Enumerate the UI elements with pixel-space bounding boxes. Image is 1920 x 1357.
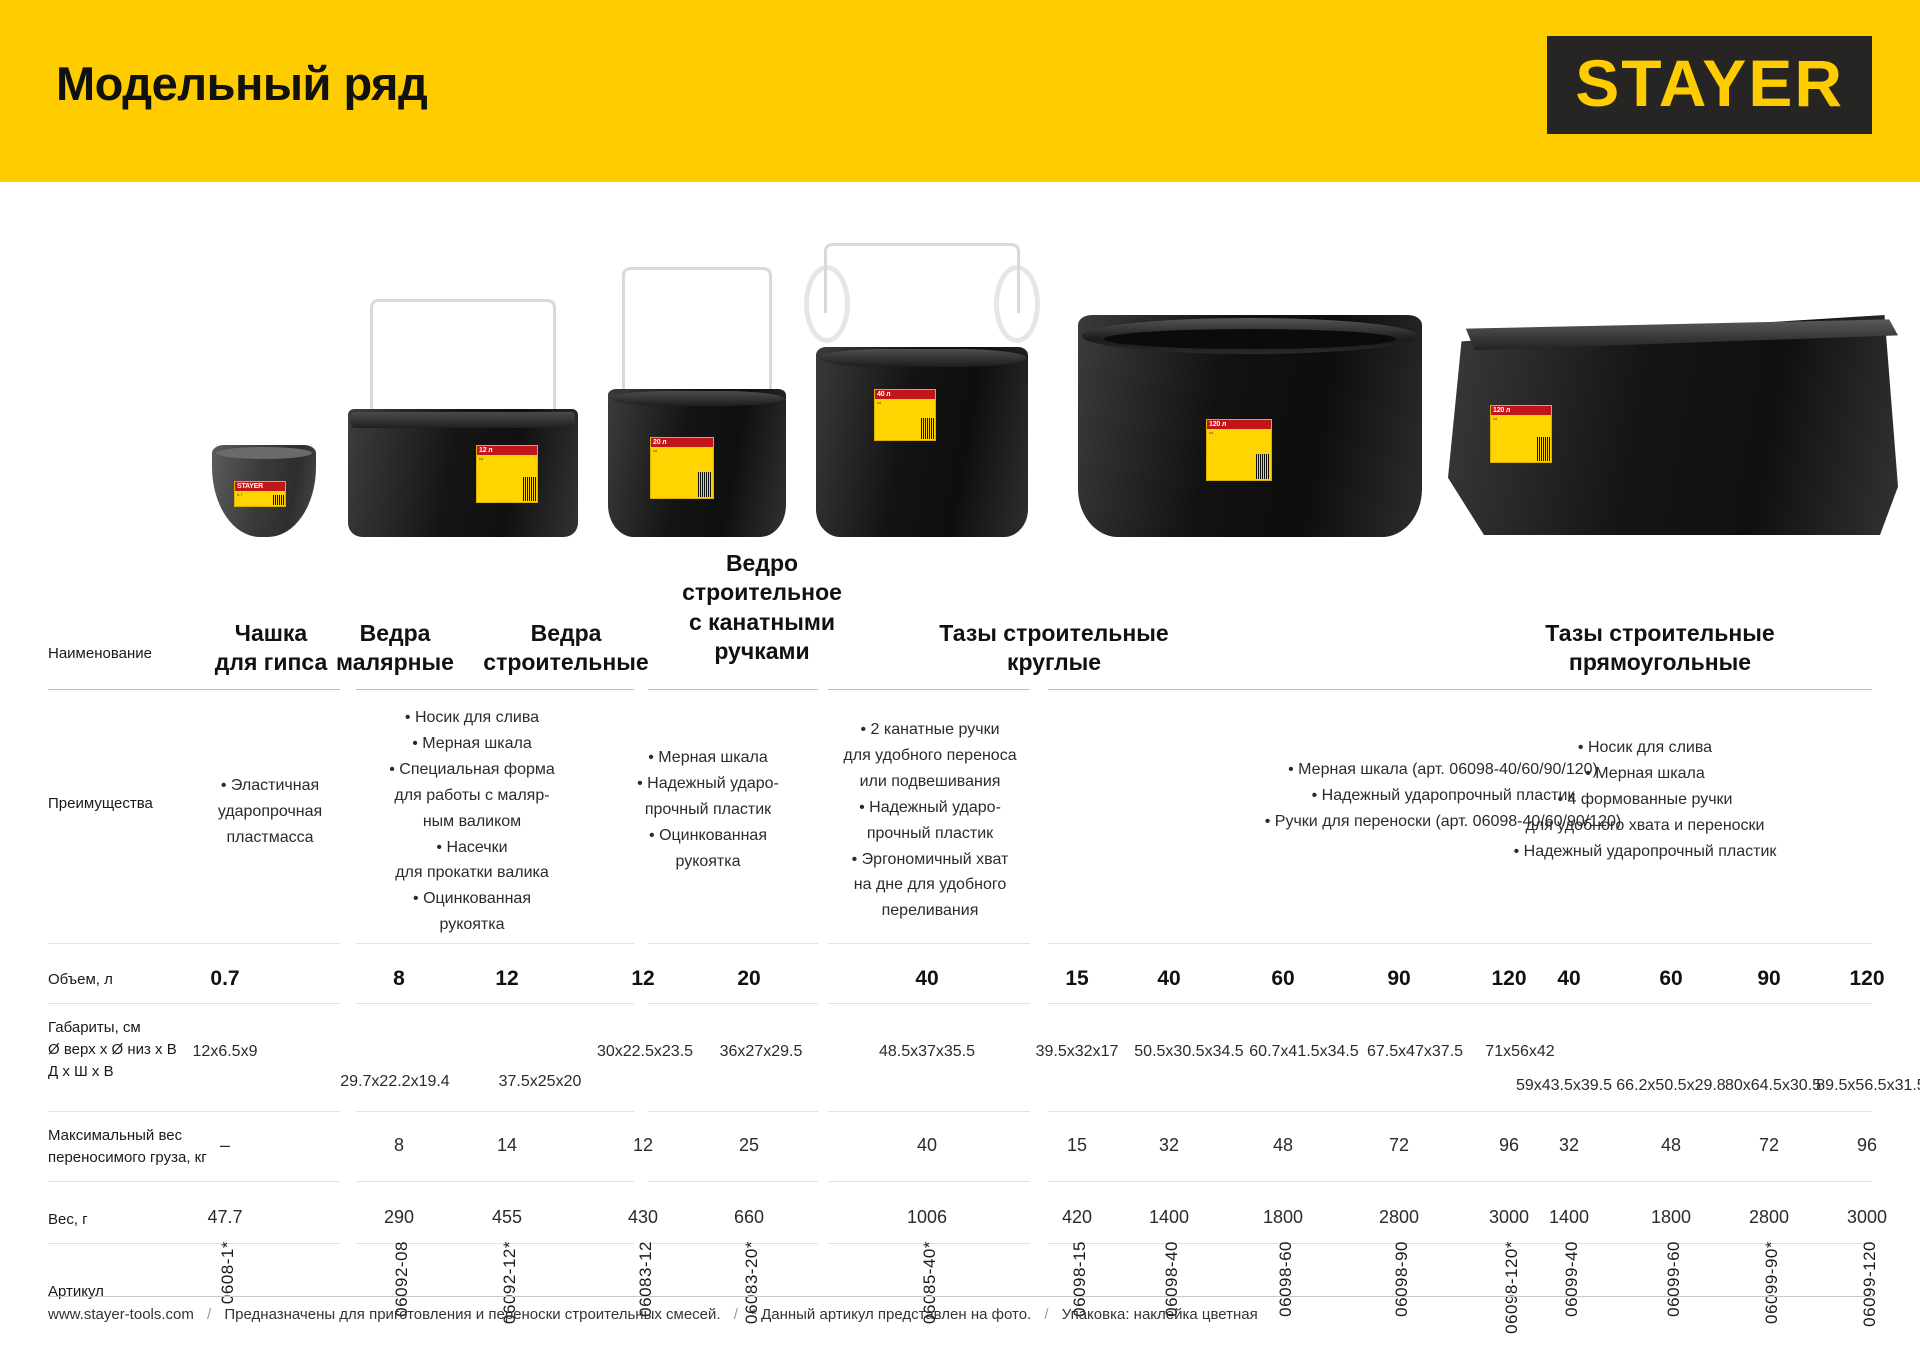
group-title-round-basins: Тазы строительные круглые xyxy=(866,619,1242,678)
advantage-line: • Надежный ударопрочный пластик xyxy=(1418,839,1872,865)
advantage-line: • Носик для слива xyxy=(366,705,578,731)
cell-weight: 1400 xyxy=(1522,1207,1616,1228)
divider xyxy=(356,943,634,944)
advantage-line: для удобного хвата и переноски xyxy=(1418,813,1872,839)
cell-volume: 8 xyxy=(352,967,446,991)
divider xyxy=(48,1243,340,1244)
cell-max-load: 32 xyxy=(1522,1135,1616,1156)
row-label-dimensions: Габариты, см Ø верх х Ø низ х В Д х Ш х … xyxy=(48,1017,177,1082)
advantage-line: на дне для удобного xyxy=(824,872,1036,898)
group-title-construction-buckets: Ведра строительные xyxy=(464,619,668,678)
advantage-line: прочный пластик xyxy=(604,797,812,823)
title-line: Тазы строительные xyxy=(939,620,1168,646)
cell-max-load: 14 xyxy=(460,1135,554,1156)
cell-dimensions: 89.5x56.5x31.5 xyxy=(1796,1077,1920,1095)
advantages-construction-buckets: • Мерная шкала • Надежный ударо- прочный… xyxy=(604,745,812,875)
title-line: строительные xyxy=(483,649,648,675)
cell-volume: 0.7 xyxy=(178,967,272,991)
title-line: малярные xyxy=(336,649,454,675)
group-title-rect-basins: Тазы строительные прямоугольные xyxy=(1448,619,1872,678)
advantage-line: рукоятка xyxy=(366,912,578,938)
title-line: Чашка xyxy=(235,620,307,646)
product-image-round-basin: 120 л ••• xyxy=(1078,315,1422,537)
product-image-rect-basin: 120 л ••• xyxy=(1448,315,1898,535)
row-label-advantages: Преимущества xyxy=(48,793,153,815)
cell-max-load: 96 xyxy=(1820,1135,1914,1156)
logo-text: STAYER xyxy=(1575,46,1844,120)
divider xyxy=(48,689,340,690)
cell-article: 06098-60 xyxy=(1276,1241,1296,1317)
cell-max-load: 15 xyxy=(1030,1135,1124,1156)
cell-volume: 40 xyxy=(1522,967,1616,991)
cell-dimensions: 29.7x22.2x19.4 xyxy=(322,1073,468,1091)
cell-weight: 455 xyxy=(460,1207,554,1228)
sticker-volume: 120 л xyxy=(1491,406,1551,415)
catalog-page: Модельный ряд STAYER STAYER 0.7 12 л ••• xyxy=(0,0,1920,1357)
cell-article: 06099-60 xyxy=(1664,1241,1684,1317)
footer-note-packaging: Упаковка: наклейка цветная xyxy=(1062,1306,1258,1323)
cell-volume: 60 xyxy=(1236,967,1330,991)
stayer-logo: STAYER xyxy=(1547,36,1872,134)
product-image-painter-bucket: 12 л ••• xyxy=(348,287,578,537)
advantage-line: переливания xyxy=(824,898,1036,924)
divider xyxy=(356,689,634,690)
title-line: Ведра xyxy=(360,620,431,646)
product-photo-strip: STAYER 0.7 12 л ••• 20 л ••• xyxy=(0,182,1920,557)
advantage-line: рукоятка xyxy=(604,849,812,875)
cell-volume: 90 xyxy=(1722,967,1816,991)
advantage-line: пластмасса xyxy=(172,825,368,851)
cell-volume: 12 xyxy=(596,967,690,991)
title-line: Тазы строительные xyxy=(1545,620,1774,646)
product-sticker-rect: 120 л ••• xyxy=(1490,405,1552,463)
cell-volume: 40 xyxy=(880,967,974,991)
cell-max-load: – xyxy=(178,1135,272,1156)
cell-weight: 420 xyxy=(1030,1207,1124,1228)
product-sticker-round: 120 л ••• xyxy=(1206,419,1272,481)
cell-max-load: 48 xyxy=(1624,1135,1718,1156)
advantages-rect-basins: • Носик для слива • Мерная шкала • 4 фор… xyxy=(1418,735,1872,865)
product-image-construction-bucket: 20 л ••• xyxy=(608,237,786,537)
product-image-rope-bucket: 40 л ••• xyxy=(816,217,1028,537)
cell-dimensions: 12x6.5x9 xyxy=(170,1043,280,1061)
divider xyxy=(356,1181,634,1182)
title-line: с канатными xyxy=(689,609,835,635)
cell-max-load: 32 xyxy=(1122,1135,1216,1156)
advantage-line: • Носик для слива xyxy=(1418,735,1872,761)
cell-article: 06099-40 xyxy=(1562,1241,1582,1317)
footer-separator: / xyxy=(198,1306,220,1323)
group-title-rope-bucket: Ведро строительное с канатными ручками xyxy=(656,549,868,667)
barcode-icon xyxy=(1256,454,1270,479)
footer-note-purpose: Предназначены для приготовления и перено… xyxy=(224,1306,720,1323)
product-image-cup: STAYER 0.7 xyxy=(212,445,316,537)
sticker-brand: STAYER xyxy=(235,482,285,491)
footer-separator: / xyxy=(725,1306,747,1323)
divider xyxy=(648,943,818,944)
advantage-line: для работы с маляр- xyxy=(366,783,578,809)
page-header: Модельный ряд STAYER xyxy=(0,0,1920,182)
advantage-line: ным валиком xyxy=(366,809,578,835)
cell-article: 06098-120* xyxy=(1502,1241,1522,1334)
cell-article: 06099-120 xyxy=(1860,1241,1880,1327)
cell-weight: 2800 xyxy=(1722,1207,1816,1228)
advantage-line: для прокатки валика xyxy=(366,860,578,886)
sticker-volume: 12 л xyxy=(477,446,537,455)
cell-dimensions: 30x22.5x23.5 xyxy=(576,1043,714,1061)
cell-weight: 1800 xyxy=(1236,1207,1330,1228)
footer-separator: / xyxy=(1035,1306,1057,1323)
advantage-line: • Мерная шкала xyxy=(604,745,812,771)
product-sticker-rope: 40 л ••• xyxy=(874,389,936,441)
cell-weight: 290 xyxy=(352,1207,446,1228)
advantage-line: • Надежный ударо- xyxy=(824,795,1036,821)
cell-volume: 90 xyxy=(1352,967,1446,991)
barcode-icon xyxy=(921,418,934,439)
cell-weight: 3000 xyxy=(1820,1207,1914,1228)
divider xyxy=(1418,1243,1872,1244)
cell-volume: 60 xyxy=(1624,967,1718,991)
divider xyxy=(356,1111,634,1112)
cell-article: 0608-1* xyxy=(218,1241,238,1304)
divider xyxy=(1418,689,1872,690)
divider xyxy=(48,1181,340,1182)
divider xyxy=(828,689,1030,690)
cell-max-load: 8 xyxy=(352,1135,446,1156)
divider xyxy=(648,1003,818,1004)
divider xyxy=(828,1003,1030,1004)
divider xyxy=(648,1181,818,1182)
metal-handle-icon xyxy=(370,299,556,417)
divider xyxy=(828,1181,1030,1182)
footer-site-link[interactable]: www.stayer-tools.com xyxy=(48,1306,194,1323)
footer-note-asterisk: * Данный артикул представлен на фото. xyxy=(751,1306,1031,1323)
cell-weight: 47.7 xyxy=(178,1207,272,1228)
dimensions-label-line: Д х Ш х В xyxy=(48,1063,114,1080)
advantage-line: • Оцинкованная xyxy=(366,886,578,912)
cell-volume: 15 xyxy=(1030,967,1124,991)
divider xyxy=(828,1111,1030,1112)
cell-dimensions: 71x56x42 xyxy=(1460,1043,1580,1061)
cell-dimensions: 36x27x29.5 xyxy=(696,1043,826,1061)
page-footer: www.stayer-tools.com / Предназначены для… xyxy=(48,1306,1258,1323)
product-sticker-construction: 20 л ••• xyxy=(650,437,714,499)
barcode-icon xyxy=(523,477,536,501)
advantage-line: • Насечки xyxy=(366,835,578,861)
cell-max-load: 12 xyxy=(596,1135,690,1156)
cell-max-load: 72 xyxy=(1352,1135,1446,1156)
divider xyxy=(1418,943,1872,944)
cell-weight: 430 xyxy=(596,1207,690,1228)
divider xyxy=(648,1243,818,1244)
cell-weight: 2800 xyxy=(1352,1207,1446,1228)
page-title: Модельный ряд xyxy=(56,56,427,111)
divider xyxy=(48,1003,340,1004)
cell-weight: 1400 xyxy=(1122,1207,1216,1228)
advantages-cup: • Эластичная ударопрочная пластмасса xyxy=(172,773,368,851)
cell-max-load: 25 xyxy=(702,1135,796,1156)
advantage-line: • Специальная форма xyxy=(366,757,578,783)
title-line: Ведра xyxy=(531,620,602,646)
cell-max-load: 48 xyxy=(1236,1135,1330,1156)
cell-weight: 660 xyxy=(702,1207,796,1228)
dimensions-label-line: Габариты, см xyxy=(48,1019,141,1036)
divider xyxy=(1418,1111,1872,1112)
advantage-line: • Мерная шкала xyxy=(1418,761,1872,787)
advantages-rope-bucket: • 2 канатные ручки для удобного переноса… xyxy=(824,717,1036,924)
dimensions-label-line: Ø верх х Ø низ х В xyxy=(48,1041,177,1058)
metal-handle-icon xyxy=(824,243,1020,313)
row-label-volume: Объем, л xyxy=(48,969,113,991)
barcode-icon xyxy=(273,495,284,505)
divider xyxy=(648,1111,818,1112)
barcode-icon xyxy=(1537,437,1550,461)
advantage-line: • 4 формованные ручки xyxy=(1418,787,1872,813)
product-sticker-cup: STAYER 0.7 xyxy=(234,481,286,507)
divider xyxy=(48,943,340,944)
title-line: круглые xyxy=(1007,649,1101,675)
footer-divider xyxy=(48,1296,1872,1297)
cell-max-load: 40 xyxy=(880,1135,974,1156)
sticker-volume: 120 л xyxy=(1207,420,1271,429)
cell-dimensions: 37.5x25x20 xyxy=(470,1073,610,1091)
cell-volume: 120 xyxy=(1820,967,1914,991)
advantage-line: • Надежный ударо- xyxy=(604,771,812,797)
cell-dimensions: 48.5x37x35.5 xyxy=(852,1043,1002,1061)
cell-volume: 12 xyxy=(460,967,554,991)
cell-article: 06099-90* xyxy=(1762,1241,1782,1324)
divider xyxy=(48,1111,340,1112)
divider xyxy=(356,1003,634,1004)
title-line: Ведро xyxy=(726,550,798,576)
cell-article: 06098-90 xyxy=(1392,1241,1412,1317)
cell-weight: 1800 xyxy=(1624,1207,1718,1228)
advantage-line: или подвешивания xyxy=(824,769,1036,795)
row-label-article: Артикул xyxy=(48,1281,104,1303)
row-label-weight: Вес, г xyxy=(48,1209,88,1231)
divider xyxy=(828,943,1030,944)
divider xyxy=(1418,1003,1872,1004)
divider xyxy=(1418,1181,1872,1182)
barcode-icon xyxy=(698,472,712,497)
advantage-line: прочный пластик xyxy=(824,821,1036,847)
metal-handle-icon xyxy=(622,267,772,389)
advantage-line: для удобного переноса xyxy=(824,743,1036,769)
cell-volume: 20 xyxy=(702,967,796,991)
sticker-volume: 20 л xyxy=(651,438,713,447)
sticker-volume: 40 л xyxy=(875,390,935,399)
cell-dimensions: 39.5x32x17 xyxy=(1018,1043,1136,1061)
title-line: прямоугольные xyxy=(1569,649,1751,675)
product-sticker-painter: 12 л ••• xyxy=(476,445,538,503)
cell-max-load: 72 xyxy=(1722,1135,1816,1156)
cell-volume: 40 xyxy=(1122,967,1216,991)
max-load-label-line: Максимальный вес xyxy=(48,1127,182,1144)
advantage-line: • Оцинкованная xyxy=(604,823,812,849)
divider xyxy=(648,689,818,690)
advantage-line: • Мерная шкала xyxy=(366,731,578,757)
advantage-line: • Эластичная xyxy=(172,773,368,799)
group-title-painter-buckets: Ведра малярные xyxy=(300,619,490,678)
title-line: ручками xyxy=(714,638,809,664)
advantage-line: • 2 канатные ручки xyxy=(824,717,1036,743)
advantages-painter-buckets: • Носик для слива • Мерная шкала • Специ… xyxy=(366,705,578,938)
cell-weight: 1006 xyxy=(880,1207,974,1228)
title-line: строительное xyxy=(682,579,842,605)
advantage-line: ударопрочная xyxy=(172,799,368,825)
row-label-name: Наименование xyxy=(48,643,152,665)
advantage-line: • Эргономичный хват xyxy=(824,847,1036,873)
